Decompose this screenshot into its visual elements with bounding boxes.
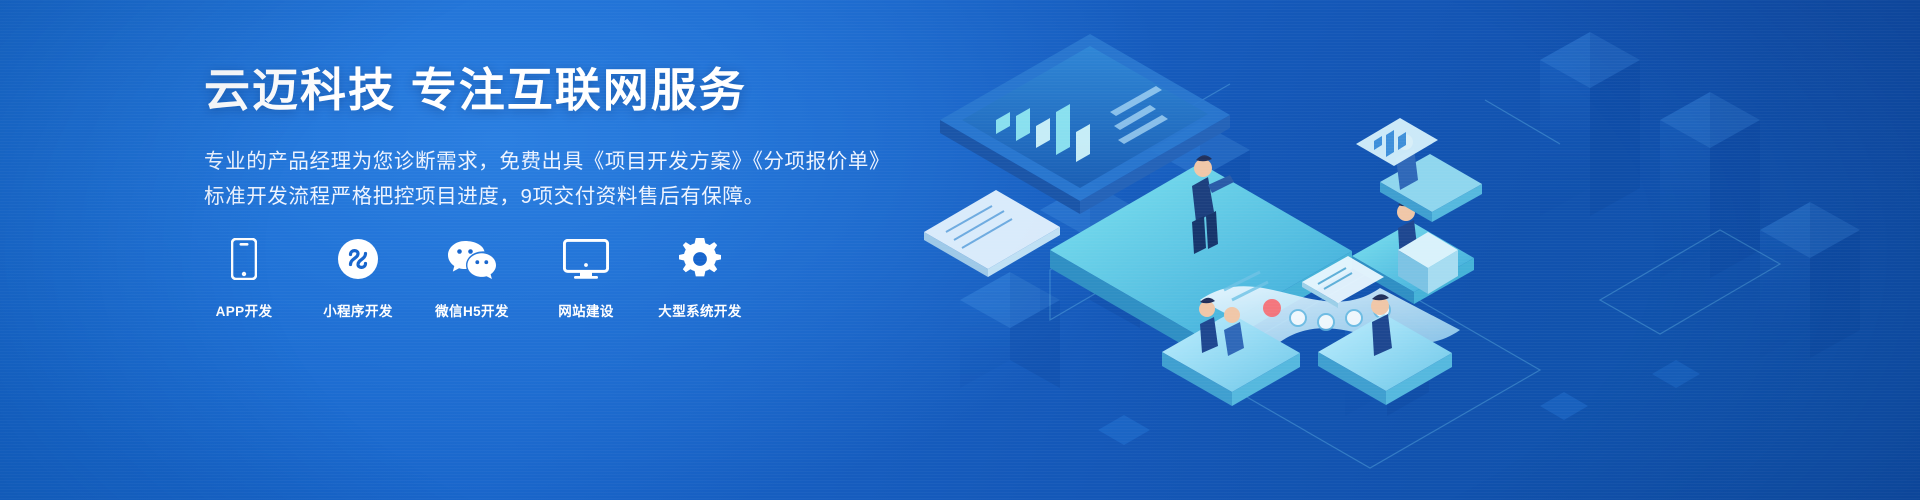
service-item-system[interactable]: 大型系统开发 bbox=[662, 236, 738, 320]
service-item-mini-program[interactable]: 小程序开发 bbox=[320, 236, 396, 320]
service-label-website: 网站建设 bbox=[558, 300, 614, 320]
hero-illustration bbox=[900, 0, 1920, 500]
hero-subtitle-line-1: 专业的产品经理为您诊断需求，免费出具《项目开发方案》《分项报价单》 bbox=[204, 144, 964, 179]
service-item-website[interactable]: 网站建设 bbox=[548, 236, 624, 320]
wechat-icon bbox=[448, 236, 496, 282]
gear-icon bbox=[679, 236, 721, 282]
service-label-system: 大型系统开发 bbox=[658, 300, 741, 320]
page-title: 云迈科技 专注互联网服务 bbox=[204, 62, 964, 120]
mobile-phone-icon bbox=[231, 236, 257, 282]
service-label-app: APP开发 bbox=[216, 300, 273, 320]
hero-copy: 云迈科技 专注互联网服务 专业的产品经理为您诊断需求，免费出具《项目开发方案》《… bbox=[204, 62, 964, 214]
hero-subtitle-line-2: 标准开发流程严格把控项目进度，9项交付资料售后有保障。 bbox=[204, 179, 964, 214]
service-label-wechat: 微信H5开发 bbox=[435, 300, 509, 320]
service-item-wechat[interactable]: 微信H5开发 bbox=[434, 236, 510, 320]
isometric-illustration-svg bbox=[900, 0, 1920, 500]
service-list: APP开发 小程序开发 bbox=[206, 236, 738, 320]
mini-program-icon bbox=[337, 236, 379, 282]
hero-banner: 云迈科技 专注互联网服务 专业的产品经理为您诊断需求，免费出具《项目开发方案》《… bbox=[0, 0, 1920, 500]
service-label-mini-program: 小程序开发 bbox=[323, 300, 393, 320]
monitor-icon bbox=[563, 236, 609, 282]
service-item-app[interactable]: APP开发 bbox=[206, 236, 282, 320]
